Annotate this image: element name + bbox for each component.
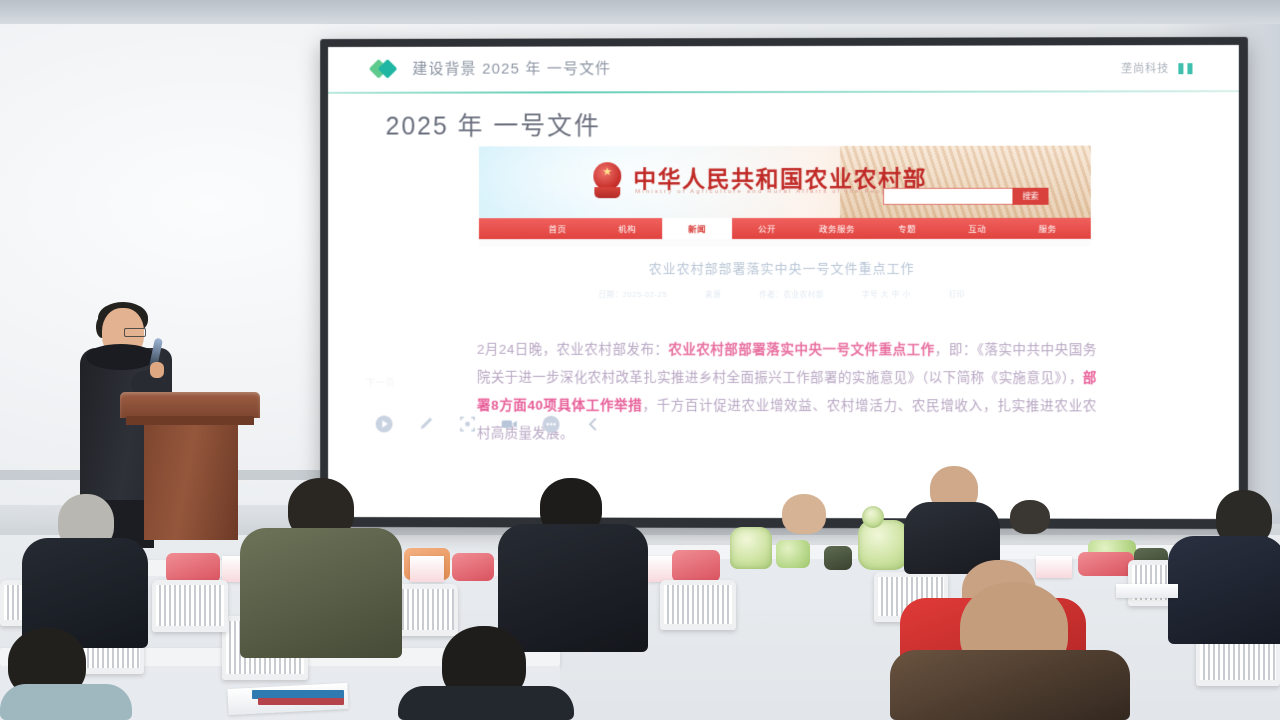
display-screen: 建设背景 2025 年 一号文件 垄尚科技 2025 年 一号文件 ★ bbox=[328, 45, 1239, 519]
slide-header-title: 建设背景 2025 年 一号文件 bbox=[412, 57, 611, 78]
slide-header: 建设背景 2025 年 一号文件 垄尚科技 bbox=[328, 45, 1239, 92]
presentation-display: 建设背景 2025 年 一号文件 垄尚科技 2025 年 一号文件 ★ bbox=[320, 37, 1248, 529]
gov-site-header: ★ 中华人民共和国农业农村部 Ministry of Agriculture a… bbox=[479, 146, 1091, 219]
article-meta-item-1: 来源 bbox=[705, 289, 721, 300]
podium bbox=[120, 392, 260, 540]
gov-website-screenshot: ★ 中华人民共和国农业农村部 Ministry of Agriculture a… bbox=[479, 146, 1091, 247]
slide: 建设背景 2025 年 一号文件 垄尚科技 2025 年 一号文件 ★ bbox=[328, 45, 1239, 519]
gov-navigation[interactable]: 首页机构新闻公开政务服务专题互动服务业务管理 bbox=[479, 218, 1091, 239]
produce-item bbox=[776, 540, 810, 568]
produce-cabbage bbox=[730, 527, 772, 569]
gov-nav-item-7[interactable]: 服务 bbox=[1012, 218, 1082, 239]
produce-cabbage bbox=[862, 506, 884, 528]
price-card bbox=[410, 556, 444, 582]
gov-nav-item-8[interactable]: 业务管理 bbox=[1083, 218, 1091, 239]
produce-item bbox=[452, 553, 494, 581]
gov-nav-item-5[interactable]: 专题 bbox=[872, 218, 942, 239]
next-page-hint[interactable]: 下一页 bbox=[366, 376, 396, 389]
video-camera-icon[interactable] bbox=[499, 414, 519, 434]
produce-cabbage bbox=[858, 520, 908, 570]
article-meta: 日期：2025-02-25来源作者：农业农村部字号 大 中 小打印 bbox=[328, 289, 1239, 300]
slide-toolbar[interactable] bbox=[374, 413, 603, 433]
produce-item bbox=[672, 550, 720, 582]
price-card bbox=[1036, 556, 1072, 578]
gov-nav-item-1[interactable]: 机构 bbox=[592, 218, 662, 239]
gov-nav-item-3[interactable]: 公开 bbox=[732, 218, 802, 239]
glasses-icon bbox=[124, 328, 146, 337]
article-meta-item-4: 打印 bbox=[949, 289, 965, 300]
laser-focus-icon[interactable] bbox=[457, 414, 477, 434]
produce-item bbox=[824, 546, 852, 570]
pen-icon[interactable] bbox=[415, 414, 435, 434]
papers bbox=[1116, 584, 1178, 598]
article-meta-item-3: 字号 大 中 小 bbox=[862, 289, 911, 300]
play-icon[interactable] bbox=[374, 413, 394, 433]
brand-bars-icon bbox=[1178, 63, 1192, 74]
gov-search-input[interactable] bbox=[883, 188, 1012, 205]
produce-item bbox=[1078, 552, 1134, 576]
gov-nav-item-6[interactable]: 互动 bbox=[942, 218, 1012, 239]
back-chevron-icon[interactable] bbox=[582, 414, 602, 434]
article-headline: 农业农村部部署落实中央一号文件重点工作 bbox=[328, 258, 1239, 277]
produce-item bbox=[166, 553, 220, 583]
gov-search-button[interactable]: 搜索 bbox=[1012, 188, 1048, 205]
gov-nav-item-2[interactable]: 新闻 bbox=[662, 218, 732, 239]
chair bbox=[152, 580, 228, 632]
gov-search-form[interactable]: 搜索 bbox=[883, 188, 1049, 205]
national-emblem-icon: ★ bbox=[590, 160, 624, 200]
gov-nav-item-4[interactable]: 政务服务 bbox=[802, 218, 872, 239]
more-icon[interactable] bbox=[541, 414, 561, 434]
brand-mark: 垄尚科技 bbox=[1121, 60, 1192, 76]
slide-title: 2025 年 一号文件 bbox=[386, 106, 601, 142]
brand-name: 垄尚科技 bbox=[1121, 60, 1169, 76]
chair bbox=[660, 580, 736, 630]
body-highlight-1: 农业农村部部署落实中央一号文件重点工作 bbox=[668, 342, 934, 357]
conference-room-scene: 建设背景 2025 年 一号文件 垄尚科技 2025 年 一号文件 ★ bbox=[0, 0, 1280, 720]
body-text-2: ，即： bbox=[935, 342, 977, 357]
notebook bbox=[258, 698, 344, 705]
article-meta-item-2: 作者：农业农村部 bbox=[759, 289, 824, 300]
article-meta-item-0: 日期：2025-02-25 bbox=[599, 289, 667, 300]
header-divider bbox=[328, 90, 1239, 94]
gov-nav-item-0[interactable]: 首页 bbox=[523, 218, 593, 239]
green-diamond-logo-icon bbox=[372, 59, 402, 77]
ceiling bbox=[0, 0, 1280, 26]
body-text-1: 2月24日晚，农业农村部发布： bbox=[477, 342, 668, 357]
